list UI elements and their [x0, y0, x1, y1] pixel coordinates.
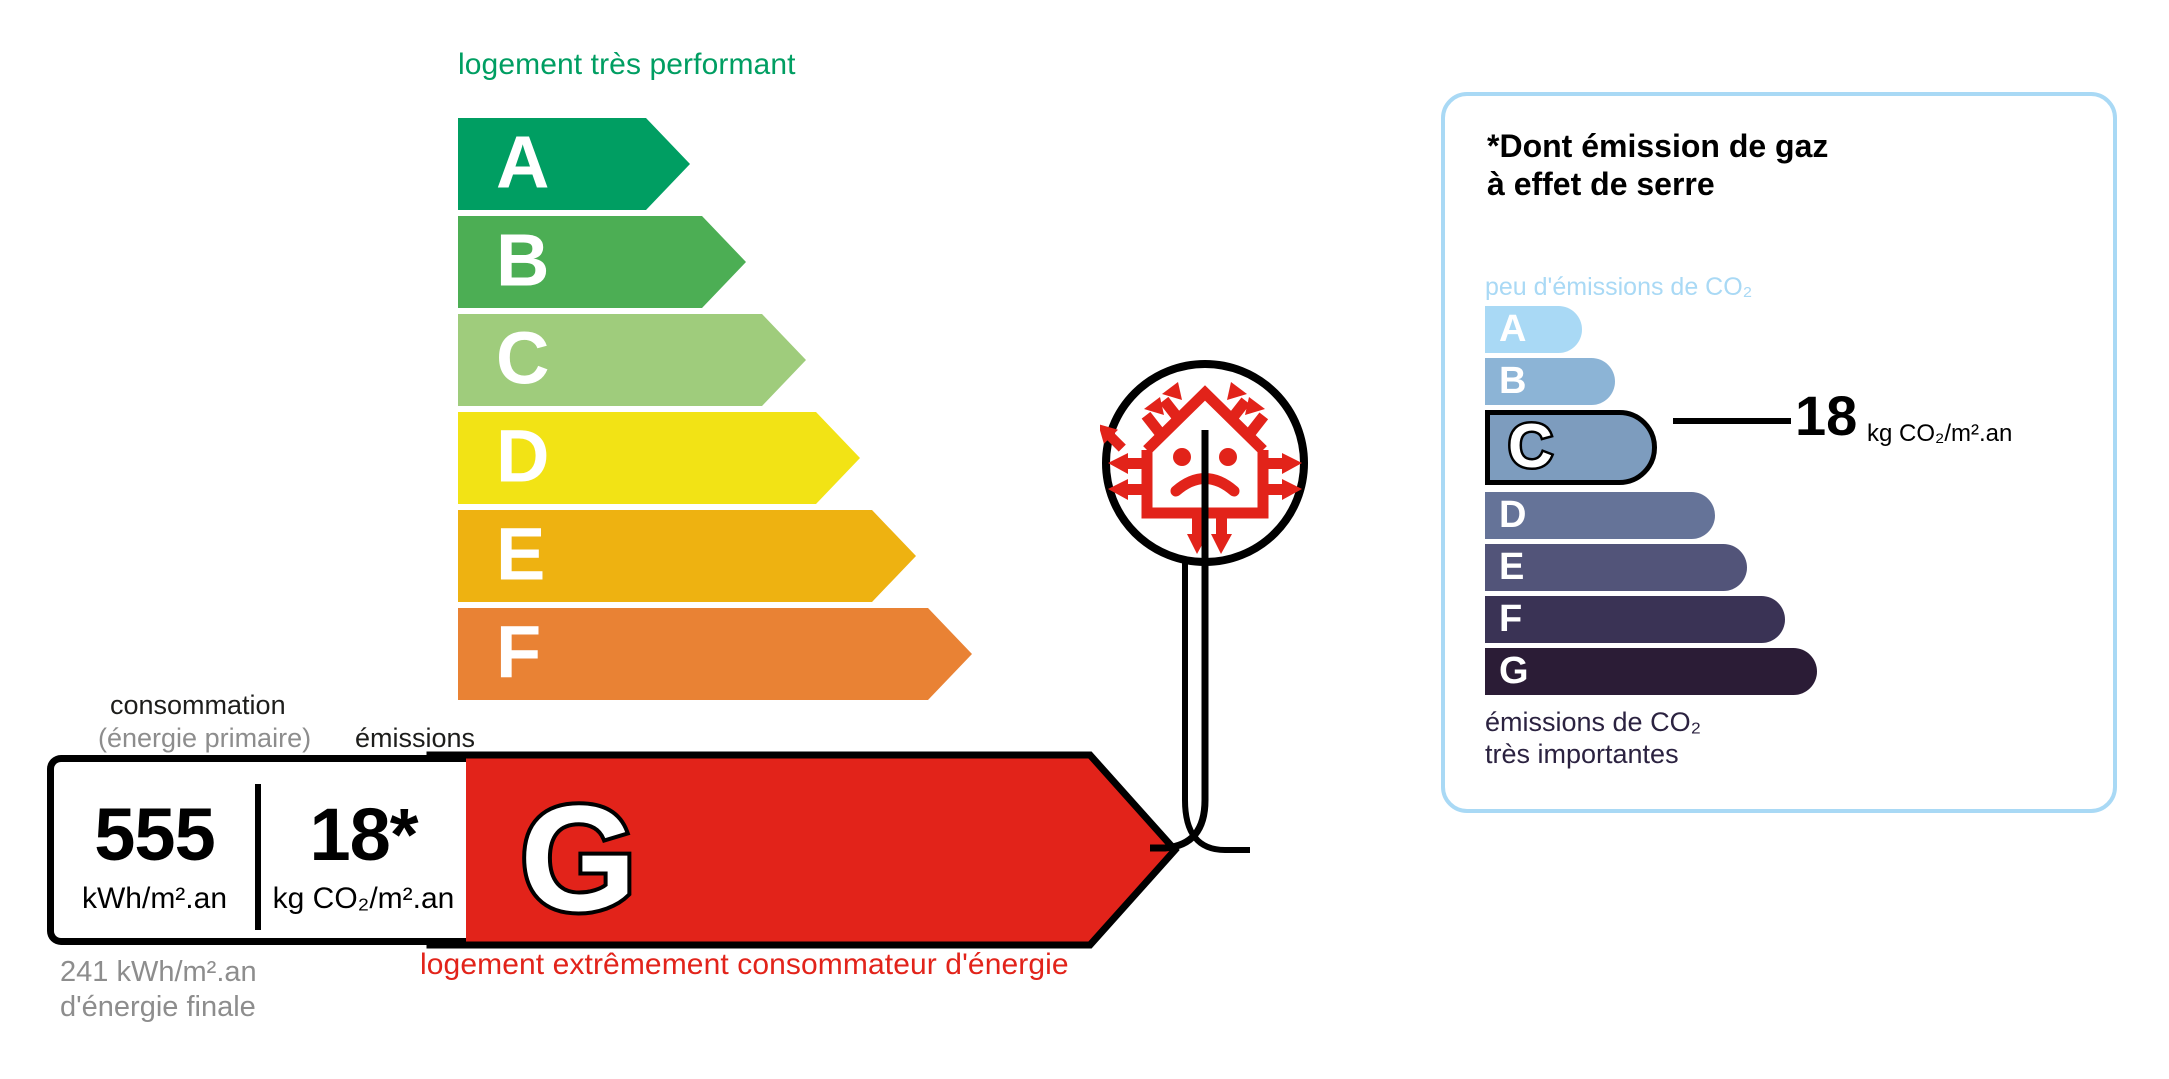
energy-grade-letter-c: C — [496, 322, 549, 396]
co2-callout-leader-line — [1673, 418, 1791, 424]
energy-grade-bar-c: C — [458, 314, 806, 406]
emissions-cell: 18* kg CO₂/m².an — [261, 762, 466, 938]
dpe-diagram: logement très performant ABCDEF consomma… — [0, 0, 2169, 1079]
energy-grade-letter-a: A — [496, 126, 549, 200]
value-box-labels: consommation (énergie primaire) émission… — [60, 690, 490, 750]
co2-emissions-panel: *Dont émission de gaz à effet de serre p… — [1441, 92, 2117, 813]
co2-grade-bars: ABCDEFG — [1485, 306, 2085, 706]
badge-connector — [1110, 430, 1350, 870]
co2-grade-bar-g: G — [1485, 648, 1817, 695]
co2-callout-value: 18 — [1795, 388, 1857, 444]
co2-grade-bar-c: C — [1485, 410, 1657, 485]
consumption-cell: 555 kWh/m².an — [54, 762, 255, 938]
energy-grade-letter-e: E — [496, 518, 545, 592]
consumption-sublabel: (énergie primaire) — [98, 723, 311, 754]
co2-title-line1: *Dont émission de gaz — [1487, 128, 1828, 166]
consumption-unit: kWh/m².an — [54, 884, 255, 914]
co2-grade-bar-a: A — [1485, 306, 1582, 353]
co2-bottom-line2: très importantes — [1485, 738, 1701, 770]
final-energy-value: 241 kWh/m².an — [60, 955, 257, 990]
emissions-unit: kg CO₂/m².an — [261, 884, 466, 914]
consumption-label: consommation — [110, 690, 286, 721]
co2-grade-letter-g: G — [1499, 652, 1529, 690]
co2-grade-letter-b: B — [1499, 362, 1526, 400]
co2-grade-letter-c: C — [1508, 415, 1553, 477]
co2-panel-title: *Dont émission de gaz à effet de serre — [1487, 128, 1828, 204]
energy-grade-bar-f: F — [458, 608, 972, 700]
co2-scale-bottom-caption: émissions de CO₂ très importantes — [1485, 706, 1701, 771]
co2-grade-bar-e: E — [1485, 544, 1747, 591]
final-energy-note: 241 kWh/m².an d'énergie finale — [60, 955, 257, 1026]
co2-title-line2: à effet de serre — [1487, 166, 1828, 204]
co2-grade-bar-f: F — [1485, 596, 1785, 643]
energy-grade-bar-e: E — [458, 510, 916, 602]
co2-scale-top-caption: peu d'émissions de CO₂ — [1485, 273, 1752, 302]
co2-grade-letter-f: F — [1499, 600, 1522, 638]
co2-grade-bar-d: D — [1485, 492, 1715, 539]
energy-grade-letter-d: D — [496, 420, 549, 494]
co2-grade-bar-b: B — [1485, 358, 1615, 405]
value-readout-box: 555 kWh/m².an 18* kg CO₂/m².an — [47, 755, 466, 945]
energy-consumption-panel: logement très performant ABCDEF consomma… — [0, 0, 1330, 1079]
final-energy-sublabel: d'énergie finale — [60, 990, 257, 1025]
energy-grade-letter-b: B — [496, 224, 549, 298]
emissions-label: émissions — [355, 723, 475, 754]
co2-grade-letter-a: A — [1499, 310, 1526, 348]
energy-grade-bar-d: D — [458, 412, 860, 504]
energy-grade-bar-a: A — [458, 118, 690, 210]
emissions-value: 18* — [261, 798, 466, 872]
co2-bottom-line1: émissions de CO₂ — [1485, 706, 1701, 738]
co2-callout-unit: kg CO₂/m².an — [1867, 422, 2012, 446]
energy-scale-bottom-caption: logement extrêmement consommateur d'éner… — [420, 948, 1069, 982]
consumption-value: 555 — [54, 798, 255, 872]
co2-grade-letter-e: E — [1499, 548, 1524, 586]
energy-grade-bar-b: B — [458, 216, 746, 308]
co2-grade-letter-d: D — [1499, 496, 1526, 534]
energy-grade-letter-f: F — [496, 616, 541, 690]
